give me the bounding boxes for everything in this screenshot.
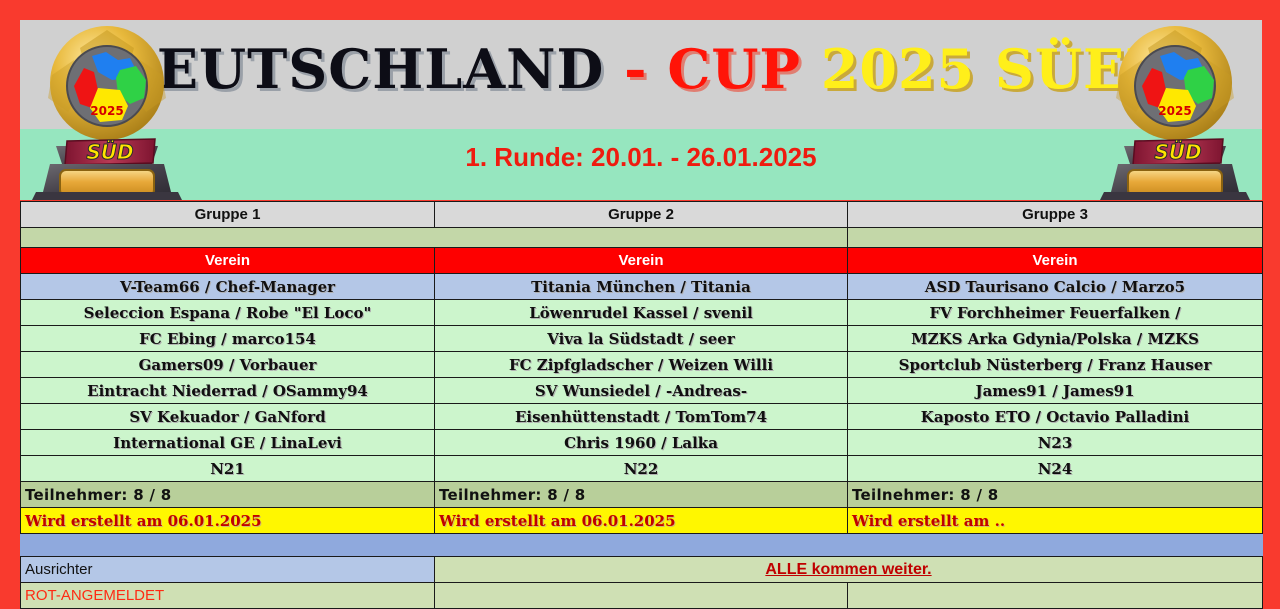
rot-angemeldet-label: ROT-ANGEMELDET bbox=[21, 583, 435, 609]
team-cell[interactable]: Sportclub Nüsterberg / Franz Hauser bbox=[848, 352, 1263, 378]
trophy-logo-right: 2025 SÜD bbox=[1090, 20, 1260, 200]
table-row: FC Ebing / marco154 Viva la Südstadt / s… bbox=[21, 326, 1263, 352]
table-row: SV Kekuador / GaNford Eisenhüttenstadt /… bbox=[21, 404, 1263, 430]
wird-erstellt-2: Wird erstellt am 06.01.2025 bbox=[435, 508, 848, 534]
team-cell[interactable]: Gamers09 / Vorbauer bbox=[21, 352, 435, 378]
wird-erstellt-row: Wird erstellt am 06.01.2025 Wird erstell… bbox=[21, 508, 1263, 534]
verein-header-row: Verein Verein Verein bbox=[21, 248, 1263, 274]
tournament-bracket-page: DEUTSCHLAND - CUP 2025 SÜED 1. Runde: 20… bbox=[0, 0, 1280, 589]
team-cell[interactable]: SV Kekuador / GaNford bbox=[21, 404, 435, 430]
spacer-cell-right bbox=[848, 228, 1263, 248]
groups-table: Gruppe 1 Gruppe 2 Gruppe 3 Verein Verein… bbox=[20, 201, 1263, 609]
verein-header-1: Verein bbox=[21, 248, 435, 274]
team-cell[interactable]: Chris 1960 / Lalka bbox=[435, 430, 848, 456]
group-header-3: Gruppe 3 bbox=[848, 202, 1263, 228]
ausrichter-row: Ausrichter ALLE kommen weiter. bbox=[21, 557, 1263, 583]
team-cell[interactable]: N24 bbox=[848, 456, 1263, 482]
trophy-icon: 2025 SÜD bbox=[22, 20, 192, 200]
teilnehmer-count-3: Teilnehmer: 8 / 8 bbox=[848, 482, 1263, 508]
svg-text:2025: 2025 bbox=[1158, 104, 1191, 118]
svg-text:2025: 2025 bbox=[90, 104, 123, 118]
spacer-cell-left bbox=[21, 228, 848, 248]
footer-blank-cell bbox=[435, 583, 848, 609]
team-cell[interactable]: MZKS Arka Gdynia/Polska / MZKS bbox=[848, 326, 1263, 352]
wird-erstellt-1: Wird erstellt am 06.01.2025 bbox=[21, 508, 435, 534]
team-cell[interactable]: FV Forchheimer Feuerfalken / bbox=[848, 300, 1263, 326]
title-part-cup: - CUP bbox=[624, 37, 821, 101]
alle-kommen-weiter-cell: ALLE kommen weiter. bbox=[435, 557, 1263, 583]
svg-text:SÜD: SÜD bbox=[86, 140, 133, 164]
spacer-row bbox=[21, 228, 1263, 248]
table-row: Seleccion Espana / Robe "El Loco" Löwenr… bbox=[21, 300, 1263, 326]
table-row: Eintracht Niederrad / OSammy94 SV Wunsie… bbox=[21, 378, 1263, 404]
team-cell[interactable]: Viva la Südstadt / seer bbox=[435, 326, 848, 352]
table-row: N21 N22 N24 bbox=[21, 456, 1263, 482]
table-row: V-Team66 / Chef-Manager Titania München … bbox=[21, 274, 1263, 300]
teilnehmer-count-1: Teilnehmer: 8 / 8 bbox=[21, 482, 435, 508]
team-cell[interactable]: Eintracht Niederrad / OSammy94 bbox=[21, 378, 435, 404]
blue-divider-cell bbox=[21, 534, 1263, 557]
verein-header-3: Verein bbox=[848, 248, 1263, 274]
team-cell[interactable]: International GE / LinaLevi bbox=[21, 430, 435, 456]
team-cell[interactable]: James91 / James91 bbox=[848, 378, 1263, 404]
table-row: Gamers09 / Vorbauer FC Zipfgladscher / W… bbox=[21, 352, 1263, 378]
group-header-2: Gruppe 2 bbox=[435, 202, 848, 228]
trophy-logo-left: 2025 SÜD bbox=[22, 20, 192, 200]
footer-blank-cell bbox=[848, 583, 1263, 609]
team-cell[interactable]: N21 bbox=[21, 456, 435, 482]
team-cell[interactable]: Eisenhüttenstadt / TomTom74 bbox=[435, 404, 848, 430]
verein-header-2: Verein bbox=[435, 248, 848, 274]
page-header: DEUTSCHLAND - CUP 2025 SÜED 1. Runde: 20… bbox=[20, 20, 1262, 200]
rot-angemeldet-row: ROT-ANGEMELDET bbox=[21, 583, 1263, 609]
page-title: DEUTSCHLAND - CUP 2025 SÜED bbox=[20, 42, 1262, 96]
teilnehmer-count-2: Teilnehmer: 8 / 8 bbox=[435, 482, 848, 508]
group-header-row: Gruppe 1 Gruppe 2 Gruppe 3 bbox=[21, 202, 1263, 228]
svg-text:SÜD: SÜD bbox=[1154, 140, 1201, 164]
team-cell[interactable]: N23 bbox=[848, 430, 1263, 456]
ausrichter-label: Ausrichter bbox=[21, 557, 435, 583]
team-cell[interactable]: V-Team66 / Chef-Manager bbox=[21, 274, 435, 300]
team-cell[interactable]: Seleccion Espana / Robe "El Loco" bbox=[21, 300, 435, 326]
round-subtitle: 1. Runde: 20.01. - 26.01.2025 bbox=[20, 142, 1262, 173]
alle-kommen-weiter-text: ALLE kommen weiter. bbox=[765, 561, 931, 578]
team-cell[interactable]: FC Zipfgladscher / Weizen Willi bbox=[435, 352, 848, 378]
trophy-icon: 2025 SÜD bbox=[1090, 20, 1260, 200]
team-cell[interactable]: SV Wunsiedel / -Andreas- bbox=[435, 378, 848, 404]
team-cell[interactable]: Kaposto ETO / Octavio Palladini bbox=[848, 404, 1263, 430]
team-cell[interactable]: Titania München / Titania bbox=[435, 274, 848, 300]
wird-erstellt-3: Wird erstellt am .. bbox=[848, 508, 1263, 534]
team-cell[interactable]: Löwenrudel Kassel / svenil bbox=[435, 300, 848, 326]
group-header-1: Gruppe 1 bbox=[21, 202, 435, 228]
team-cell[interactable]: N22 bbox=[435, 456, 848, 482]
team-cell[interactable]: FC Ebing / marco154 bbox=[21, 326, 435, 352]
team-cell[interactable]: ASD Taurisano Calcio / Marzo5 bbox=[848, 274, 1263, 300]
table-row: International GE / LinaLevi Chris 1960 /… bbox=[21, 430, 1263, 456]
teilnehmer-row: Teilnehmer: 8 / 8 Teilnehmer: 8 / 8 Teil… bbox=[21, 482, 1263, 508]
blue-divider-row bbox=[21, 534, 1263, 557]
